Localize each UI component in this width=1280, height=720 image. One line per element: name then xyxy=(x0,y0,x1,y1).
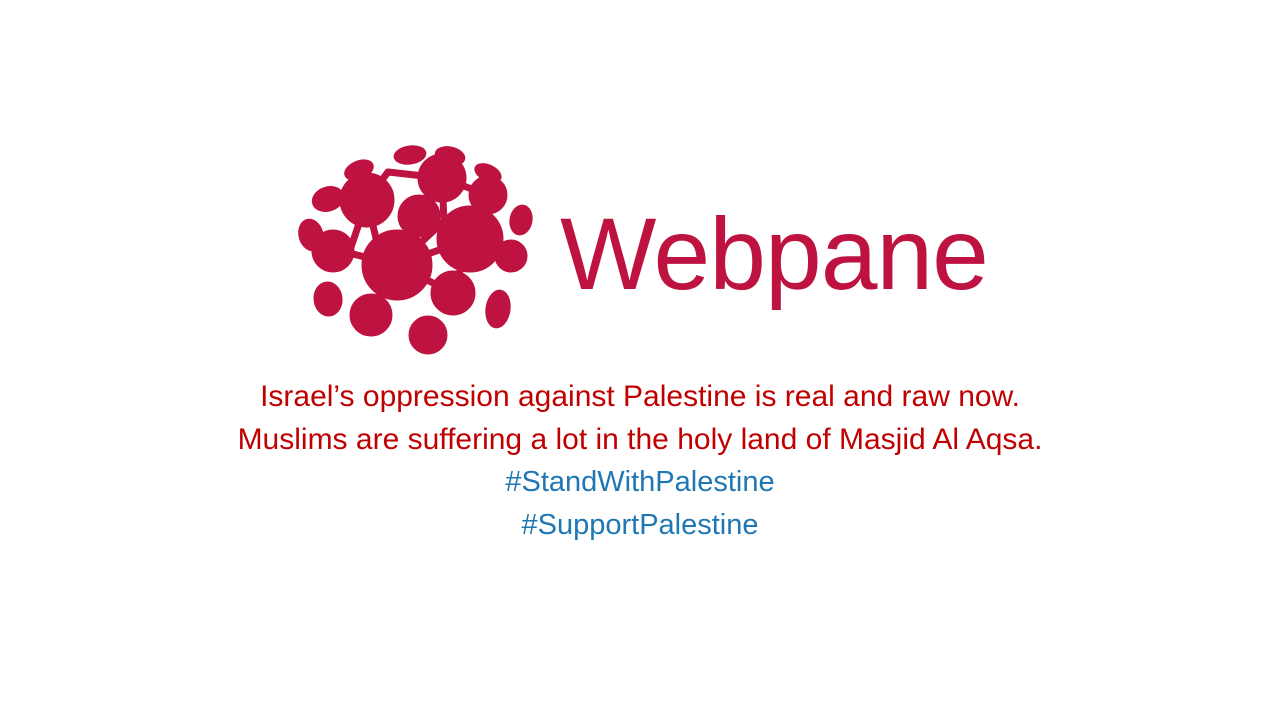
slide-canvas: Webpane Israel’s oppression against Pale… xyxy=(0,0,1280,720)
hashtag-stand-with-palestine[interactable]: #StandWithPalestine xyxy=(0,461,1280,504)
brand-lockup: Webpane xyxy=(0,140,1280,360)
message-line-1: Israel’s oppression against Palestine is… xyxy=(0,375,1280,418)
message-line-2: Muslims are suffering a lot in the holy … xyxy=(0,418,1280,461)
hashtag-support-palestine[interactable]: #SupportPalestine xyxy=(0,504,1280,547)
message-block: Israel’s oppression against Palestine is… xyxy=(0,375,1280,547)
brand-wordmark: Webpane xyxy=(560,203,988,305)
webpane-network-logo-icon xyxy=(292,143,542,358)
